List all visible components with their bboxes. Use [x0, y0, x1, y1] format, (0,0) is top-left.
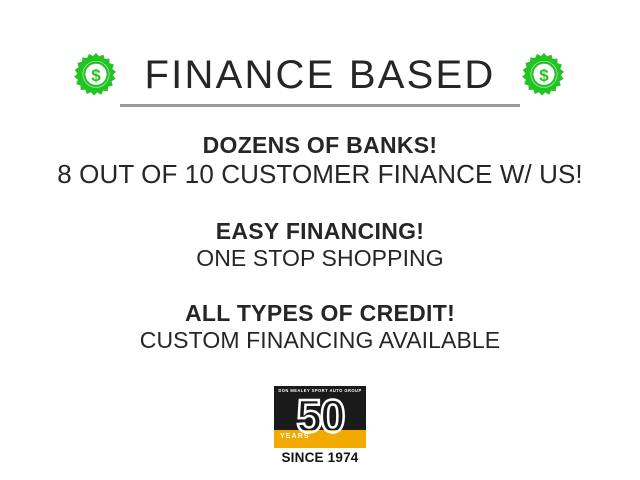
svg-text:$: $: [540, 66, 550, 85]
copy-sub-financing: ONE STOP SHOPPING: [0, 245, 640, 272]
copy-block-banks: DOZENS OF BANKS! 8 OUT OF 10 CUSTOMER FI…: [0, 132, 640, 190]
dealer-anniversary-logo: DON MEALEY SPORT AUTO GROUP 50 YEARS SIN…: [274, 386, 366, 465]
svg-text:$: $: [91, 66, 101, 85]
body-copy: DOZENS OF BANKS! 8 OUT OF 10 CUSTOMER FI…: [0, 132, 640, 354]
copy-heading-credit: ALL TYPES OF CREDIT!: [0, 300, 640, 327]
logo-badge: DON MEALEY SPORT AUTO GROUP 50 YEARS: [274, 386, 366, 448]
copy-block-financing: EASY FINANCING! ONE STOP SHOPPING: [0, 218, 640, 272]
money-gear-icon-right: $: [521, 52, 567, 98]
money-gear-icon-left: $: [73, 52, 119, 98]
copy-heading-financing: EASY FINANCING!: [0, 218, 640, 245]
finance-based-slide: $ FINANCE BASED $ DOZENS OF BANKS! 8 OUT…: [0, 0, 640, 480]
logo-years-label: YEARS: [280, 433, 310, 440]
copy-block-credit: ALL TYPES OF CREDIT! CUSTOM FINANCING AV…: [0, 300, 640, 354]
copy-sub-credit: CUSTOM FINANCING AVAILABLE: [0, 327, 640, 354]
page-title: FINANCE BASED: [145, 55, 496, 95]
slide-header: $ FINANCE BASED $: [0, 44, 640, 106]
copy-sub-banks: 8 OUT OF 10 CUSTOMER FINANCE W/ US!: [0, 159, 640, 190]
copy-heading-banks: DOZENS OF BANKS!: [0, 132, 640, 159]
title-divider: [120, 104, 520, 107]
logo-since-label: SINCE 1974: [274, 451, 366, 465]
